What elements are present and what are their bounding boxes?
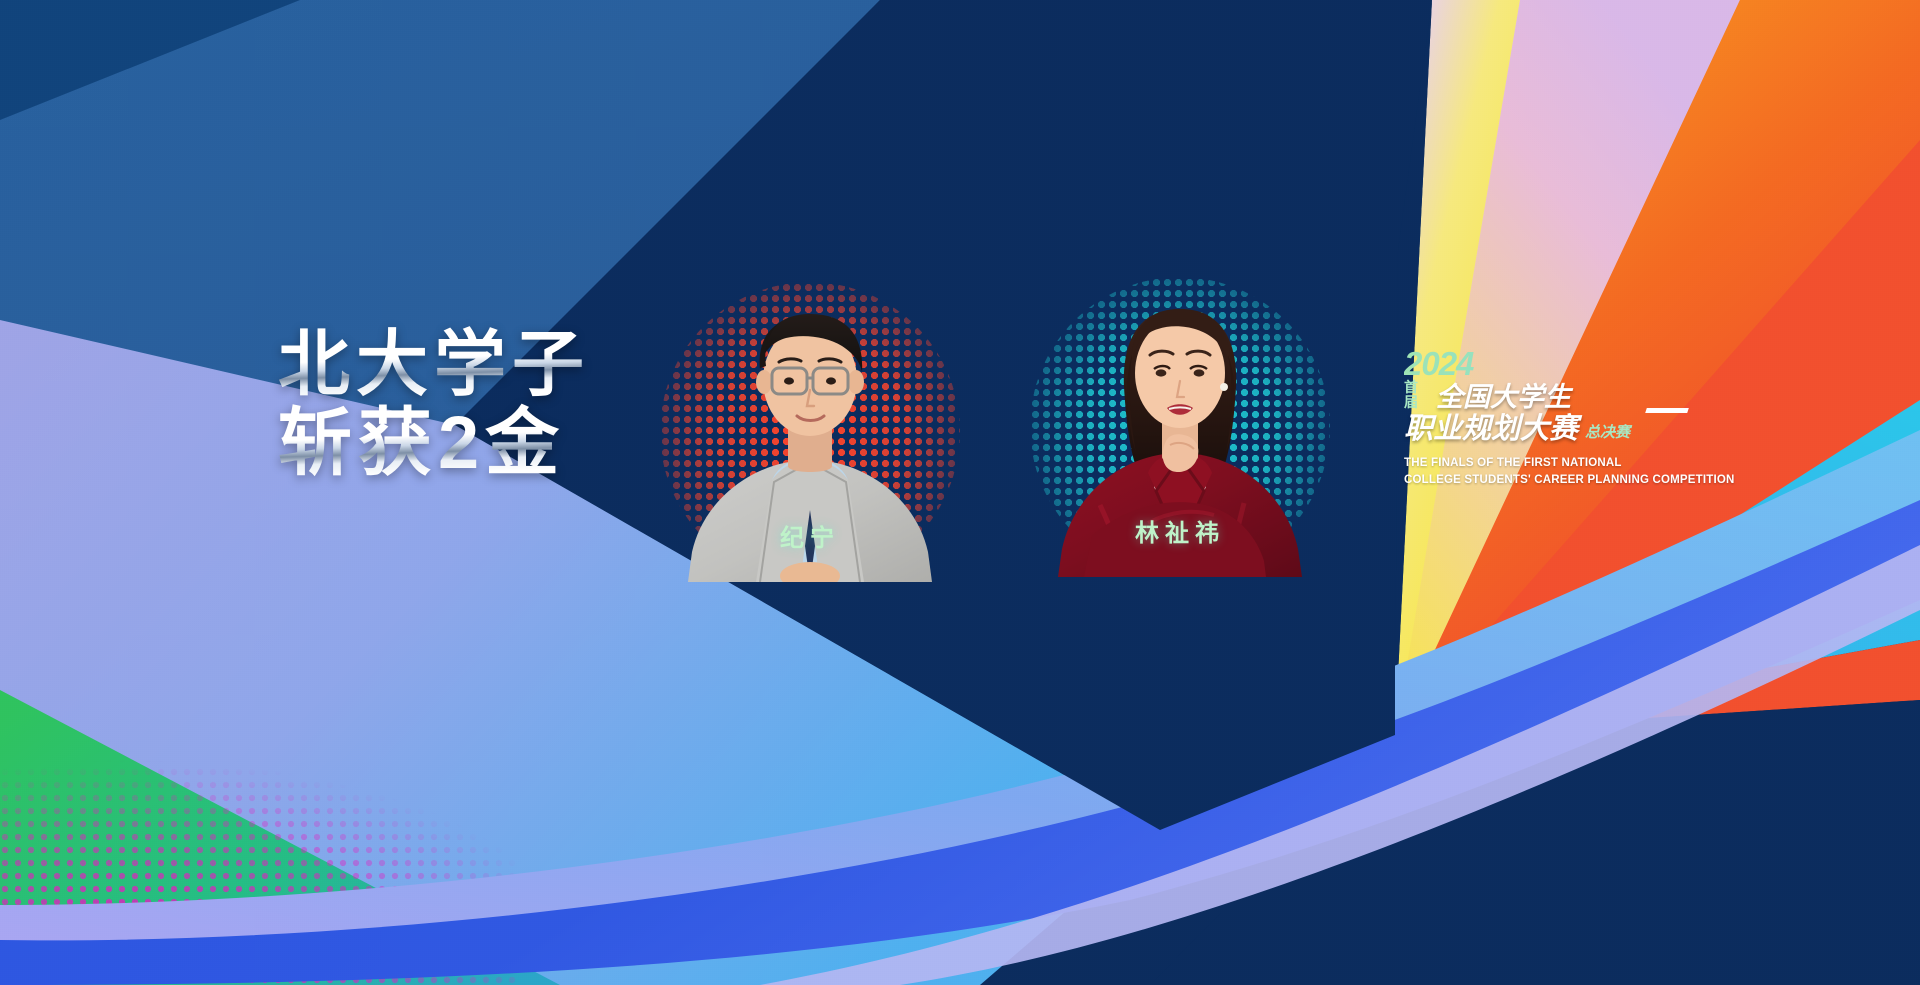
photo-disc-1 [1030, 205, 1330, 505]
headline-line-2: 斩获2金 [278, 402, 838, 485]
logo-year: 2024 [1404, 348, 1684, 379]
logo-title-line-2: 职业规划大赛 [1404, 415, 1578, 444]
logo-slash-decor [1645, 408, 1689, 413]
logo-english-line-1: THE FINALS OF THE FIRST NATIONAL [1404, 455, 1684, 472]
poster-canvas: 北大学子 斩获2金 [0, 0, 1920, 985]
background-artwork [0, 0, 1920, 985]
person-name-0: 纪宁 [660, 518, 960, 553]
competition-logo: 2024 首届 全国大学生 职业规划大赛 总决赛 THE FINALS OF T… [1404, 348, 1684, 490]
person-card-1: 林祉祎 [1030, 205, 1330, 561]
headline: 北大学子 斩获2金 [278, 325, 838, 485]
logo-final-round: 总决赛 [1585, 421, 1630, 444]
logo-title-line-1: 全国大学生 [1436, 384, 1571, 411]
logo-english-line-2: COLLEGE STUDENTS' CAREER PLANNING COMPET… [1404, 472, 1684, 489]
logo-first-edition: 首届 [1404, 380, 1430, 410]
headline-line-1: 北大学子 [278, 325, 838, 406]
person-name-1: 林祉祎 [1030, 513, 1330, 548]
